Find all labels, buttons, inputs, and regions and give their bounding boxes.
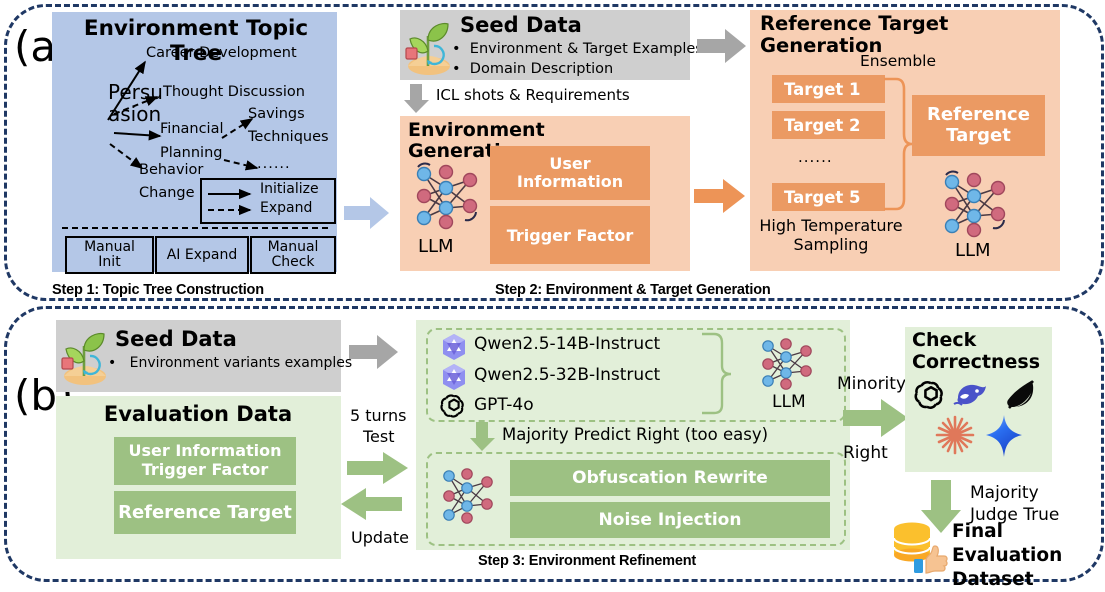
tree-node-savings: Savings bbox=[248, 107, 305, 123]
seedling-icon bbox=[404, 18, 454, 74]
arrow-env-to-reftarget-icon bbox=[694, 178, 746, 214]
button-manual-check[interactable]: Manual Check bbox=[250, 236, 336, 274]
user-information-label-b: User Information bbox=[129, 442, 282, 461]
tree-node-behavior: Behavior bbox=[139, 163, 203, 179]
neural-network-icon bbox=[938, 170, 1014, 238]
env-generation-llm-label: LLM bbox=[418, 236, 454, 257]
tree-root-line1: Persu bbox=[108, 81, 163, 103]
tree-node-techniques: Techniques bbox=[248, 130, 329, 146]
seed-bullet-a-0: • Environment & Target Examples bbox=[452, 40, 703, 60]
reference-target-result-box: Reference Target bbox=[912, 95, 1045, 156]
reference-target-box-b: Reference Target bbox=[114, 491, 296, 534]
legend-label-expand: Expand bbox=[260, 200, 312, 216]
reference-target-title-line1: Reference Target bbox=[760, 13, 948, 35]
user-information-line1-a: User bbox=[549, 155, 590, 173]
qwen-icon bbox=[440, 363, 468, 391]
legend-label-initialize: Initialize bbox=[260, 181, 319, 197]
trigger-factor-label-b: Trigger Factor bbox=[142, 461, 269, 480]
sampling-line2: Sampling bbox=[756, 235, 906, 254]
neural-network-icon bbox=[410, 162, 486, 230]
target-5-box: Target 5 bbox=[772, 183, 885, 211]
ensemble-label: Ensemble bbox=[860, 52, 936, 70]
qwen-icon bbox=[440, 333, 468, 361]
tree-root-line2: asion bbox=[108, 103, 163, 125]
button-ai-expand[interactable]: AI Expand bbox=[155, 236, 249, 274]
user-information-trigger-box-b: User Information Trigger Factor bbox=[114, 437, 296, 485]
tree-node-ellipsis: ...... bbox=[257, 157, 291, 173]
model-name-gpt4o: GPT-4o bbox=[474, 395, 534, 415]
button-manual-init[interactable]: Manual Init bbox=[65, 236, 154, 274]
legend-arrow-icons bbox=[208, 186, 260, 218]
obfuscation-rewrite-box: Obfuscation Rewrite bbox=[510, 460, 830, 496]
user-information-box-a: User Information bbox=[490, 146, 650, 200]
seed-bullet-b-0: • Environment variants examples bbox=[108, 355, 352, 371]
seed-data-title-a: Seed Data bbox=[460, 13, 582, 37]
models-brace-icon bbox=[700, 333, 734, 415]
tree-node-career: Career Development bbox=[146, 46, 297, 62]
icl-arrow-label: ICL shots & Requirements bbox=[436, 86, 630, 104]
neural-network-icon bbox=[438, 465, 500, 527]
update-label: Update bbox=[351, 528, 409, 547]
reference-target-llm-label: LLM bbox=[955, 240, 991, 261]
check-correctness-title-line1: Check bbox=[912, 330, 1040, 352]
button-manual-check-line2: Check bbox=[271, 255, 314, 270]
seed-bullet-a-1: • Domain Description bbox=[452, 60, 703, 80]
turns-label-line1: 5 turns bbox=[350, 406, 406, 425]
seedling-icon bbox=[60, 328, 110, 384]
openai-icon bbox=[914, 378, 948, 412]
icl-down-arrow-icon bbox=[404, 84, 430, 114]
seed-data-title-b: Seed Data bbox=[115, 327, 237, 351]
zhipu-icon bbox=[1004, 378, 1038, 412]
target-ellipsis: ...... bbox=[798, 148, 833, 166]
check-correctness-title-line2: Correctness bbox=[912, 352, 1040, 374]
tree-node-financial: Financial bbox=[160, 122, 224, 138]
arrow-minority-right-icon bbox=[843, 398, 909, 438]
check-correctness-title: Check Correctness bbox=[912, 330, 1040, 374]
database-thumbsup-icon bbox=[888, 518, 950, 574]
majority-predict-label: Majority Predict Right (too easy) bbox=[502, 425, 768, 444]
arrow-seed-to-reftarget-icon bbox=[697, 28, 747, 64]
step1-label: Step 1: Topic Tree Construction bbox=[52, 282, 264, 298]
tree-root-node: Persu asion bbox=[108, 81, 163, 126]
gemini-icon bbox=[984, 414, 1024, 458]
user-information-line2-a: Information bbox=[517, 173, 623, 191]
target-2-box: Target 2 bbox=[772, 111, 885, 139]
evaluation-data-title: Evaluation Data bbox=[60, 402, 336, 426]
deepseek-icon bbox=[952, 380, 990, 410]
final-dataset-label: Final Evaluation Dataset bbox=[952, 520, 1105, 592]
noise-injection-box: Noise Injection bbox=[510, 502, 830, 538]
seed-data-bullets-a: • Environment & Target Examples • Domain… bbox=[452, 40, 703, 79]
majority-judge-line1: Majority bbox=[970, 482, 1059, 504]
turns-label-line2: Test bbox=[363, 427, 395, 446]
final-dataset-line1: Final Evaluation bbox=[952, 520, 1105, 568]
reference-target-title: Reference Target Generation bbox=[760, 13, 948, 57]
neural-network-icon bbox=[757, 336, 819, 392]
minority-label: Minority bbox=[837, 374, 906, 394]
tree-node-change: Change bbox=[139, 186, 195, 202]
step3-llm-label: LLM bbox=[772, 392, 806, 412]
arrow-test-right-icon bbox=[347, 451, 409, 485]
tree-node-thought: Thought Discussion bbox=[163, 85, 305, 101]
model-name-qwen32b: Qwen2.5-32B-Instruct bbox=[474, 365, 660, 385]
claude-icon bbox=[934, 414, 976, 456]
arrow-seedb-to-models-icon bbox=[349, 334, 399, 370]
right-label: Right bbox=[843, 443, 888, 463]
target-1-box: Target 1 bbox=[772, 75, 885, 103]
trigger-factor-box-a: Trigger Factor bbox=[490, 206, 650, 264]
step3-label: Step 3: Environment Refinement bbox=[478, 553, 696, 569]
topic-tree-divider bbox=[62, 227, 328, 229]
final-dataset-line2: Dataset bbox=[952, 568, 1105, 592]
model-name-qwen14b: Qwen2.5-14B-Instruct bbox=[474, 334, 660, 354]
step2-label: Step 2: Environment & Target Generation bbox=[495, 282, 771, 298]
arrow-topic-to-env-icon bbox=[344, 196, 390, 230]
sampling-line1: High Temperature bbox=[756, 216, 906, 235]
openai-icon bbox=[440, 392, 468, 420]
button-ai-expand-label: AI Expand bbox=[167, 248, 238, 263]
button-manual-check-line1: Manual bbox=[268, 240, 319, 255]
env-generation-title-line1: Environment bbox=[408, 120, 545, 141]
reference-target-result-line2: Target bbox=[946, 126, 1011, 147]
tree-legend: Initialize Expand bbox=[200, 178, 336, 224]
reference-target-result-line1: Reference bbox=[927, 105, 1030, 126]
button-manual-init-line1: Manual bbox=[84, 240, 135, 255]
button-manual-init-line2: Init bbox=[98, 255, 120, 270]
sampling-label: High Temperature Sampling bbox=[756, 216, 906, 254]
majority-predict-down-arrow-icon bbox=[470, 422, 496, 452]
arrow-update-left-icon bbox=[340, 487, 402, 521]
tree-node-planning: Planning bbox=[160, 146, 222, 162]
